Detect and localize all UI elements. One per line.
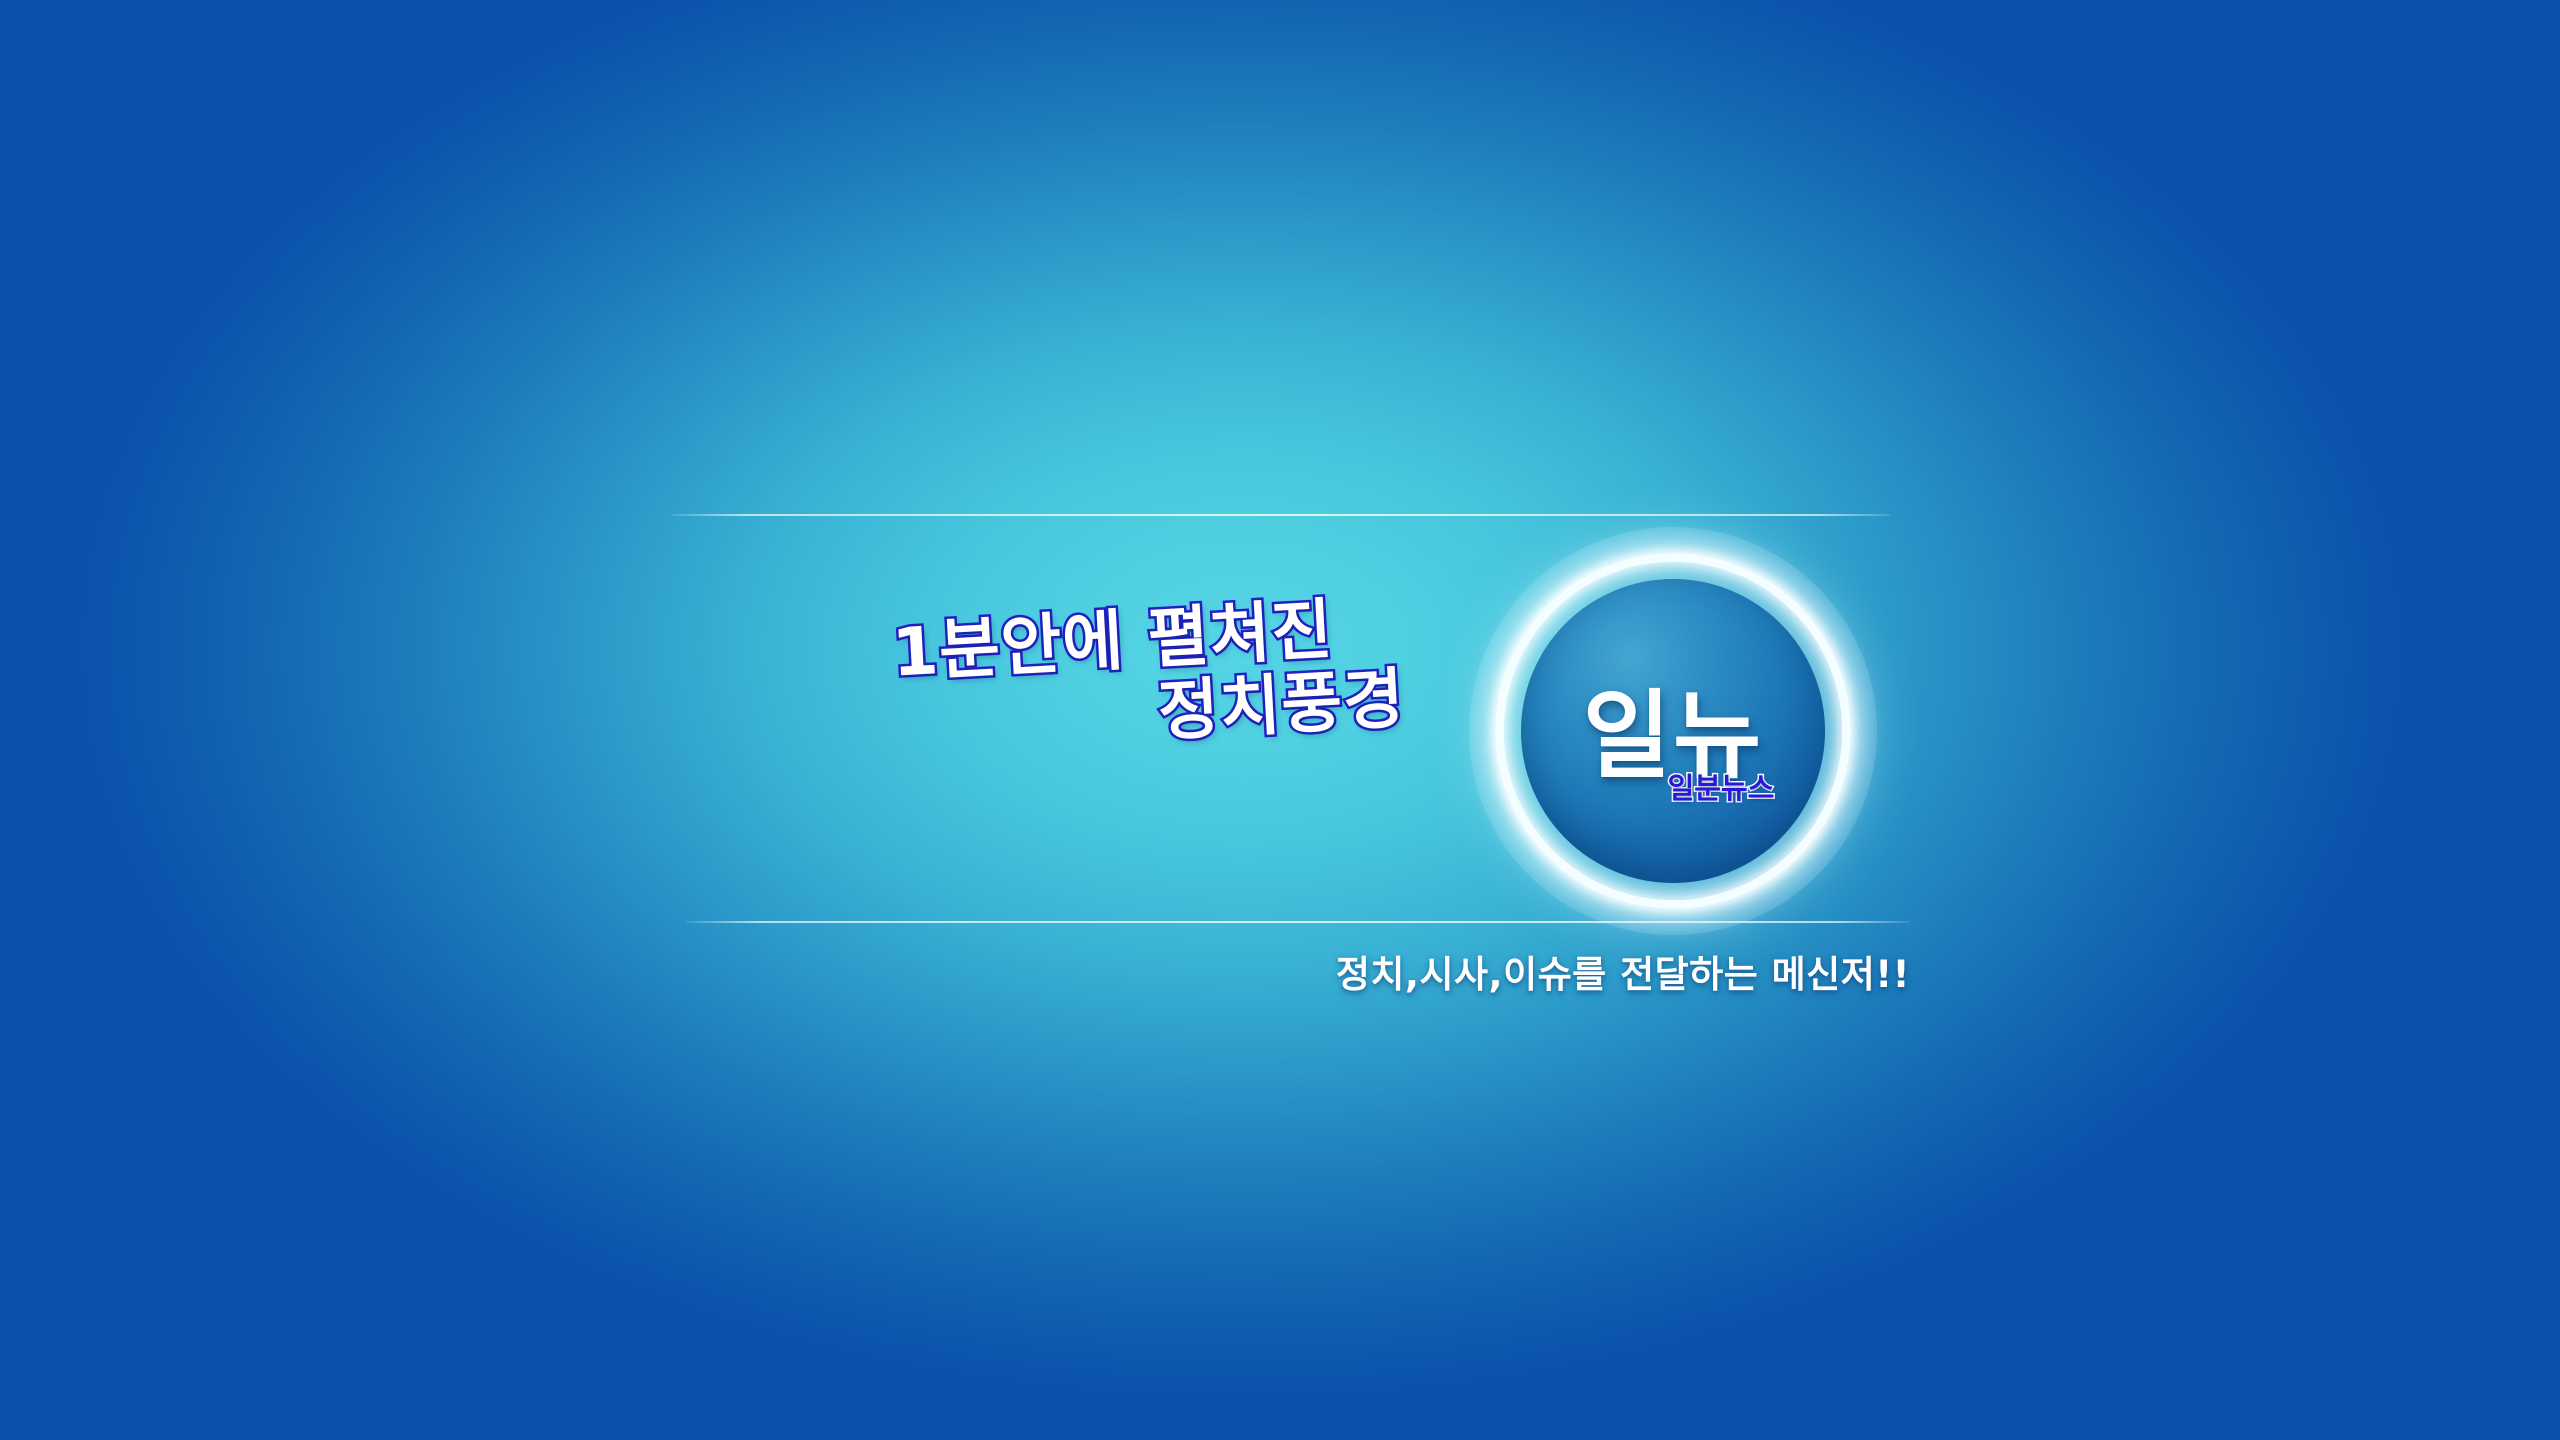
top-divider [671, 514, 1891, 516]
title-card: 1분안에 펼쳐진 정치풍경 일뉴 일분뉴스 정치,시사,이슈를 전달하는 메신저… [0, 0, 2560, 1440]
headline-block: 1분안에 펼쳐진 정치풍경 [700, 592, 1407, 770]
logo-subtext: 일분뉴스 [1495, 765, 1851, 807]
tagline: 정치,시사,이슈를 전달하는 메신저!! [900, 944, 1910, 998]
bottom-divider [686, 921, 1910, 923]
channel-logo: 일뉴 일분뉴스 [1495, 553, 1851, 909]
